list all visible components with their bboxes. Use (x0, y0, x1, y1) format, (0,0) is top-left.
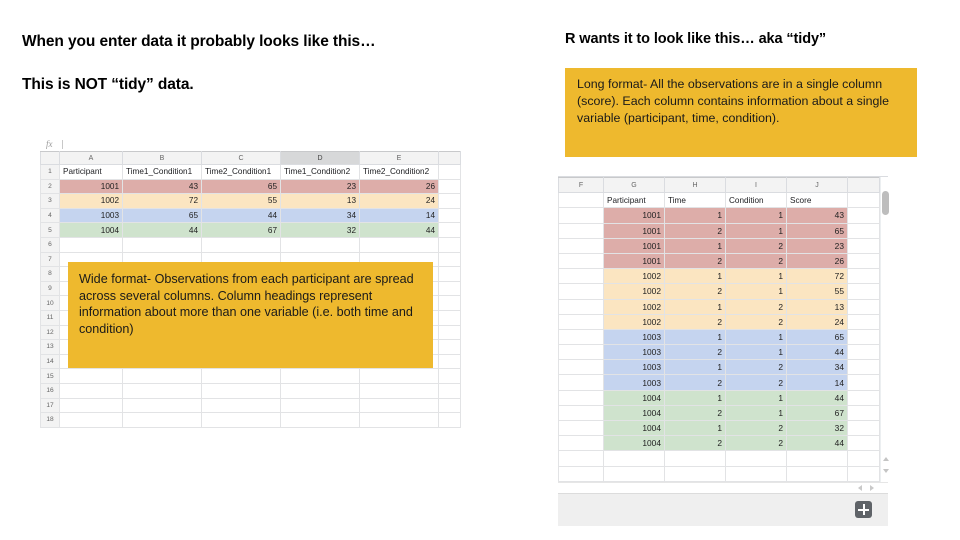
long-data-cell[interactable]: 65 (787, 329, 848, 344)
column-header-C[interactable]: C (202, 152, 281, 165)
long-data-cell[interactable]: 2 (726, 299, 787, 314)
wide-empty-cell[interactable] (281, 398, 360, 413)
long-empty-cell[interactable] (848, 360, 880, 375)
long-empty-cell[interactable] (787, 451, 848, 466)
long-data-cell[interactable]: 43 (787, 208, 848, 223)
long-empty-cell[interactable] (665, 466, 726, 481)
long-data-cell[interactable]: 1002 (604, 299, 665, 314)
wide-empty-cell[interactable] (60, 413, 123, 428)
long-empty-cell[interactable] (848, 208, 880, 223)
row-number-1[interactable]: 1 (41, 165, 60, 180)
wide-empty-cell[interactable] (439, 383, 461, 398)
long-data-cell[interactable]: 1 (726, 329, 787, 344)
long-empty-cell[interactable] (559, 284, 604, 299)
row-number-18[interactable]: 18 (41, 413, 60, 428)
table-row[interactable]: 1ParticipantTime1_Condition1Time2_Condit… (41, 165, 461, 180)
wide-empty-cell[interactable] (202, 383, 281, 398)
long-empty-cell[interactable] (559, 375, 604, 390)
wide-empty-cell[interactable] (439, 281, 461, 296)
long-data-cell[interactable]: 1001 (604, 238, 665, 253)
left-heading-line1: When you enter data it probably looks li… (22, 33, 375, 51)
wide-empty-cell[interactable] (281, 383, 360, 398)
table-row[interactable]: 10021213 (559, 299, 880, 314)
long-data-cell[interactable]: 1002 (604, 314, 665, 329)
long-data-cell[interactable]: 1 (726, 345, 787, 360)
long-empty-cell[interactable] (559, 451, 604, 466)
wide-data-cell[interactable]: 65 (123, 208, 202, 223)
wide-empty-cell[interactable] (439, 340, 461, 355)
column-header-partial[interactable] (439, 152, 461, 165)
column-header-D[interactable]: D (281, 152, 360, 165)
wide-empty-cell[interactable] (360, 369, 439, 384)
row-number-16[interactable]: 16 (41, 383, 60, 398)
long-grid[interactable]: FGHIJParticipantTimeConditionScore100111… (558, 177, 880, 482)
wide-empty-cell[interactable] (439, 413, 461, 428)
slide: When you enter data it probably looks li… (0, 0, 960, 540)
table-row[interactable]: 10021172 (559, 269, 880, 284)
table-row[interactable]: 10011223 (559, 238, 880, 253)
long-data-cell[interactable]: 44 (787, 390, 848, 405)
row-number-10[interactable]: 10 (41, 296, 60, 311)
wide-empty-cell[interactable] (202, 237, 281, 252)
long-empty-cell[interactable] (559, 329, 604, 344)
long-empty-cell[interactable] (726, 451, 787, 466)
wide-empty-cell[interactable] (439, 165, 461, 180)
table-row[interactable]: ParticipantTimeConditionScore (559, 193, 880, 208)
long-data-cell[interactable]: 67 (787, 405, 848, 420)
column-header-partial[interactable] (848, 178, 880, 193)
table-row[interactable] (559, 451, 880, 466)
long-data-cell[interactable]: 1 (726, 390, 787, 405)
table-row[interactable]: 5100444673244 (41, 223, 461, 238)
long-data-cell[interactable]: 1004 (604, 436, 665, 451)
wide-empty-cell[interactable] (123, 383, 202, 398)
table-row[interactable]: 4100365443414 (41, 208, 461, 223)
long-empty-cell[interactable] (559, 345, 604, 360)
scrollbar-thumb[interactable] (882, 191, 889, 215)
long-empty-cell[interactable] (848, 451, 880, 466)
wide-empty-cell[interactable] (360, 383, 439, 398)
table-row[interactable]: 10031234 (559, 360, 880, 375)
wide-empty-cell[interactable] (439, 325, 461, 340)
wide-empty-cell[interactable] (439, 267, 461, 282)
wide-data-cell[interactable]: 43 (123, 179, 202, 194)
long-data-cell[interactable]: 2 (726, 436, 787, 451)
long-header-cell[interactable]: Score (787, 193, 848, 208)
long-data-cell[interactable]: 1 (665, 238, 726, 253)
table-row[interactable]: 18 (41, 413, 461, 428)
wide-data-cell[interactable]: 1001 (60, 179, 123, 194)
wide-empty-cell[interactable] (439, 237, 461, 252)
table-row[interactable]: 10011143 (559, 208, 880, 223)
long-empty-cell[interactable] (848, 253, 880, 268)
long-empty-cell[interactable] (848, 299, 880, 314)
long-data-cell[interactable]: 2 (665, 375, 726, 390)
wide-header-cell[interactable]: Participant (60, 165, 123, 180)
wide-empty-cell[interactable] (60, 398, 123, 413)
long-empty-cell[interactable] (559, 405, 604, 420)
wide-empty-cell[interactable] (439, 398, 461, 413)
long-data-cell[interactable]: 2 (665, 345, 726, 360)
long-data-cell[interactable]: 14 (787, 375, 848, 390)
column-header-B[interactable]: B (123, 152, 202, 165)
wide-data-cell[interactable]: 55 (202, 194, 281, 209)
long-empty-cell[interactable] (559, 360, 604, 375)
row-number-11[interactable]: 11 (41, 310, 60, 325)
wide-data-cell[interactable]: 1004 (60, 223, 123, 238)
long-data-cell[interactable]: 2 (665, 223, 726, 238)
long-empty-cell[interactable] (559, 269, 604, 284)
long-empty-cell[interactable] (559, 253, 604, 268)
wide-data-cell[interactable]: 24 (360, 194, 439, 209)
wide-header-cell[interactable]: Time2_Condition1 (202, 165, 281, 180)
long-empty-cell[interactable] (559, 436, 604, 451)
long-empty-cell[interactable] (848, 375, 880, 390)
table-row[interactable]: 10022155 (559, 284, 880, 299)
long-empty-cell[interactable] (848, 238, 880, 253)
table-row[interactable]: 10012226 (559, 253, 880, 268)
table-row[interactable]: 10041144 (559, 390, 880, 405)
row-number-17[interactable]: 17 (41, 398, 60, 413)
long-data-cell[interactable]: 26 (787, 253, 848, 268)
formula-bar[interactable]: fx (40, 137, 460, 151)
long-data-cell[interactable]: 1001 (604, 253, 665, 268)
long-data-cell[interactable]: 1002 (604, 269, 665, 284)
long-empty-cell[interactable] (848, 223, 880, 238)
wide-data-cell[interactable]: 14 (360, 208, 439, 223)
long-data-cell[interactable]: 1003 (604, 345, 665, 360)
long-empty-cell[interactable] (848, 466, 880, 481)
column-header-E[interactable]: E (360, 152, 439, 165)
long-empty-cell[interactable] (848, 345, 880, 360)
wide-data-cell[interactable]: 34 (281, 208, 360, 223)
row-number-7[interactable]: 7 (41, 252, 60, 267)
long-data-cell[interactable]: 1001 (604, 208, 665, 223)
wide-empty-cell[interactable] (123, 413, 202, 428)
long-data-cell[interactable]: 2 (726, 314, 787, 329)
long-data-cell[interactable]: 1 (726, 223, 787, 238)
row-number-6[interactable]: 6 (41, 237, 60, 252)
wide-empty-cell[interactable] (439, 208, 461, 223)
left-heading-line2: This is NOT “tidy” data. (22, 76, 194, 94)
wide-empty-cell[interactable] (202, 369, 281, 384)
formula-bar-label: fx (46, 139, 53, 149)
long-data-cell[interactable]: 34 (787, 360, 848, 375)
long-header-cell[interactable]: Time (665, 193, 726, 208)
long-data-cell[interactable]: 1004 (604, 390, 665, 405)
wide-format-callout: Wide format- Observations from each part… (68, 262, 433, 368)
wide-empty-cell[interactable] (202, 413, 281, 428)
long-header-cell[interactable]: Participant (604, 193, 665, 208)
wide-empty-cell[interactable] (202, 398, 281, 413)
wide-empty-cell[interactable] (123, 369, 202, 384)
long-data-cell[interactable]: 1 (726, 405, 787, 420)
wide-data-cell[interactable]: 65 (202, 179, 281, 194)
wide-empty-cell[interactable] (281, 369, 360, 384)
long-data-cell[interactable]: 1002 (604, 284, 665, 299)
long-data-cell[interactable]: 1003 (604, 360, 665, 375)
long-data-cell[interactable]: 72 (787, 269, 848, 284)
wide-empty-cell[interactable] (281, 237, 360, 252)
long-data-cell[interactable]: 65 (787, 223, 848, 238)
long-empty-cell[interactable] (559, 193, 604, 208)
long-data-cell[interactable]: 24 (787, 314, 848, 329)
wide-empty-cell[interactable] (123, 398, 202, 413)
long-data-cell[interactable]: 2 (726, 375, 787, 390)
table-row[interactable]: 10032144 (559, 345, 880, 360)
long-data-cell[interactable]: 1004 (604, 421, 665, 436)
long-data-cell[interactable]: 44 (787, 345, 848, 360)
long-empty-cell[interactable] (848, 269, 880, 284)
table-row[interactable]: 2100143652326 (41, 179, 461, 194)
wide-empty-cell[interactable] (123, 237, 202, 252)
wide-header-cell[interactable]: Time1_Condition2 (281, 165, 360, 180)
long-data-cell[interactable]: 1 (665, 269, 726, 284)
long-column-letter-row: FGHIJ (559, 178, 880, 193)
wide-header-cell[interactable]: Time2_Condition2 (360, 165, 439, 180)
long-data-cell[interactable]: 2 (665, 405, 726, 420)
long-empty-cell[interactable] (665, 451, 726, 466)
wide-data-cell[interactable]: 32 (281, 223, 360, 238)
wide-empty-cell[interactable] (60, 383, 123, 398)
long-data-cell[interactable]: 1003 (604, 329, 665, 344)
table-row[interactable]: 10032214 (559, 375, 880, 390)
scroll-up-arrow-icon[interactable] (883, 457, 889, 461)
column-header-A[interactable]: A (60, 152, 123, 165)
wide-empty-cell[interactable] (439, 223, 461, 238)
column-header-H[interactable]: H (665, 178, 726, 193)
table-row[interactable]: 10042167 (559, 405, 880, 420)
long-empty-cell[interactable] (559, 299, 604, 314)
long-data-cell[interactable]: 1001 (604, 223, 665, 238)
long-empty-cell[interactable] (559, 208, 604, 223)
long-data-cell[interactable]: 2 (726, 238, 787, 253)
wide-header-cell[interactable]: Time1_Condition1 (123, 165, 202, 180)
vertical-scrollbar[interactable] (880, 177, 888, 482)
long-empty-cell[interactable] (726, 466, 787, 481)
long-empty-cell[interactable] (559, 390, 604, 405)
wide-empty-cell[interactable] (439, 179, 461, 194)
long-empty-cell[interactable] (848, 405, 880, 420)
row-number-4[interactable]: 4 (41, 208, 60, 223)
long-data-cell[interactable]: 13 (787, 299, 848, 314)
wide-data-cell[interactable]: 1002 (60, 194, 123, 209)
row-number-5[interactable]: 5 (41, 223, 60, 238)
formula-bar-divider (62, 140, 63, 149)
table-row[interactable] (559, 466, 880, 481)
scroll-down-arrow-icon[interactable] (883, 469, 889, 473)
wide-empty-cell[interactable] (439, 354, 461, 369)
wide-empty-cell[interactable] (439, 296, 461, 311)
long-empty-cell[interactable] (787, 466, 848, 481)
wide-data-cell[interactable]: 44 (360, 223, 439, 238)
wide-empty-cell[interactable] (439, 310, 461, 325)
row-number-13[interactable]: 13 (41, 340, 60, 355)
table-row[interactable]: 10022224 (559, 314, 880, 329)
table-row[interactable]: 15 (41, 369, 461, 384)
wide-data-cell[interactable]: 72 (123, 194, 202, 209)
long-data-cell[interactable]: 32 (787, 421, 848, 436)
column-header-G[interactable]: G (604, 178, 665, 193)
wide-empty-cell[interactable] (360, 413, 439, 428)
long-data-cell[interactable]: 2 (726, 360, 787, 375)
table-row[interactable]: 10012165 (559, 223, 880, 238)
wide-data-cell[interactable]: 44 (123, 223, 202, 238)
wide-data-cell[interactable]: 26 (360, 179, 439, 194)
long-empty-cell[interactable] (604, 451, 665, 466)
row-number-12[interactable]: 12 (41, 325, 60, 340)
long-data-cell[interactable]: 44 (787, 436, 848, 451)
long-empty-cell[interactable] (559, 314, 604, 329)
wide-empty-cell[interactable] (60, 369, 123, 384)
row-number-8[interactable]: 8 (41, 267, 60, 282)
long-data-cell[interactable]: 1004 (604, 405, 665, 420)
wide-data-cell[interactable]: 23 (281, 179, 360, 194)
long-data-cell[interactable]: 1 (665, 299, 726, 314)
column-header-I[interactable]: I (726, 178, 787, 193)
wide-data-cell[interactable]: 1003 (60, 208, 123, 223)
long-data-cell[interactable]: 1 (665, 329, 726, 344)
long-data-cell[interactable]: 2 (726, 253, 787, 268)
table-row[interactable]: 17 (41, 398, 461, 413)
long-empty-cell[interactable] (848, 421, 880, 436)
long-data-cell[interactable]: 1003 (604, 375, 665, 390)
long-data-cell[interactable]: 2 (665, 253, 726, 268)
long-empty-cell[interactable] (848, 390, 880, 405)
long-data-cell[interactable]: 2 (665, 436, 726, 451)
row-number-2[interactable]: 2 (41, 179, 60, 194)
select-all-corner[interactable] (41, 152, 60, 165)
wide-data-cell[interactable]: 67 (202, 223, 281, 238)
horizontal-scroll-controls[interactable] (558, 482, 888, 493)
scroll-right-arrow-icon[interactable] (870, 485, 874, 491)
long-empty-cell[interactable] (848, 329, 880, 344)
long-header-cell[interactable]: Condition (726, 193, 787, 208)
row-number-3[interactable]: 3 (41, 194, 60, 209)
row-number-14[interactable]: 14 (41, 354, 60, 369)
long-data-cell[interactable]: 1 (665, 390, 726, 405)
long-data-cell[interactable]: 2 (726, 421, 787, 436)
table-row[interactable]: 6 (41, 237, 461, 252)
wide-empty-cell[interactable] (439, 252, 461, 267)
long-data-cell[interactable]: 1 (665, 360, 726, 375)
wide-data-cell[interactable]: 44 (202, 208, 281, 223)
long-empty-cell[interactable] (848, 314, 880, 329)
table-row[interactable]: 10041232 (559, 421, 880, 436)
long-data-cell[interactable]: 23 (787, 238, 848, 253)
row-number-15[interactable]: 15 (41, 369, 60, 384)
wide-empty-cell[interactable] (439, 369, 461, 384)
table-row[interactable]: 10042244 (559, 436, 880, 451)
long-empty-cell[interactable] (848, 284, 880, 299)
wide-empty-cell[interactable] (60, 237, 123, 252)
right-heading: R wants it to look like this… aka “tidy” (565, 31, 826, 47)
long-empty-cell[interactable] (848, 436, 880, 451)
long-empty-cell[interactable] (848, 193, 880, 208)
move-handle-icon[interactable] (855, 501, 872, 518)
long-data-cell[interactable]: 2 (665, 284, 726, 299)
wide-data-cell[interactable]: 13 (281, 194, 360, 209)
long-empty-cell[interactable] (559, 466, 604, 481)
long-empty-cell[interactable] (559, 238, 604, 253)
long-data-cell[interactable]: 1 (726, 208, 787, 223)
long-data-cell[interactable]: 1 (665, 208, 726, 223)
column-header-F[interactable]: F (559, 178, 604, 193)
long-empty-cell[interactable] (559, 421, 604, 436)
row-number-9[interactable]: 9 (41, 281, 60, 296)
wide-empty-cell[interactable] (439, 194, 461, 209)
table-row[interactable]: 3100272551324 (41, 194, 461, 209)
wide-empty-cell[interactable] (360, 237, 439, 252)
long-format-spreadsheet[interactable]: FGHIJParticipantTimeConditionScore100111… (558, 176, 888, 501)
long-data-cell[interactable]: 1 (726, 284, 787, 299)
wide-empty-cell[interactable] (281, 413, 360, 428)
long-data-cell[interactable]: 1 (665, 421, 726, 436)
long-data-cell[interactable]: 55 (787, 284, 848, 299)
table-row[interactable]: 16 (41, 383, 461, 398)
sheet-bottom-bar (558, 493, 888, 526)
long-data-cell[interactable]: 2 (665, 314, 726, 329)
table-row[interactable]: 10031165 (559, 329, 880, 344)
long-format-callout: Long format- All the observations are in… (565, 68, 917, 157)
long-data-cell[interactable]: 1 (726, 269, 787, 284)
long-empty-cell[interactable] (559, 223, 604, 238)
long-empty-cell[interactable] (604, 466, 665, 481)
wide-column-letter-row: ABCDE (41, 152, 461, 165)
wide-empty-cell[interactable] (360, 398, 439, 413)
scroll-left-arrow-icon[interactable] (858, 485, 862, 491)
column-header-J[interactable]: J (787, 178, 848, 193)
